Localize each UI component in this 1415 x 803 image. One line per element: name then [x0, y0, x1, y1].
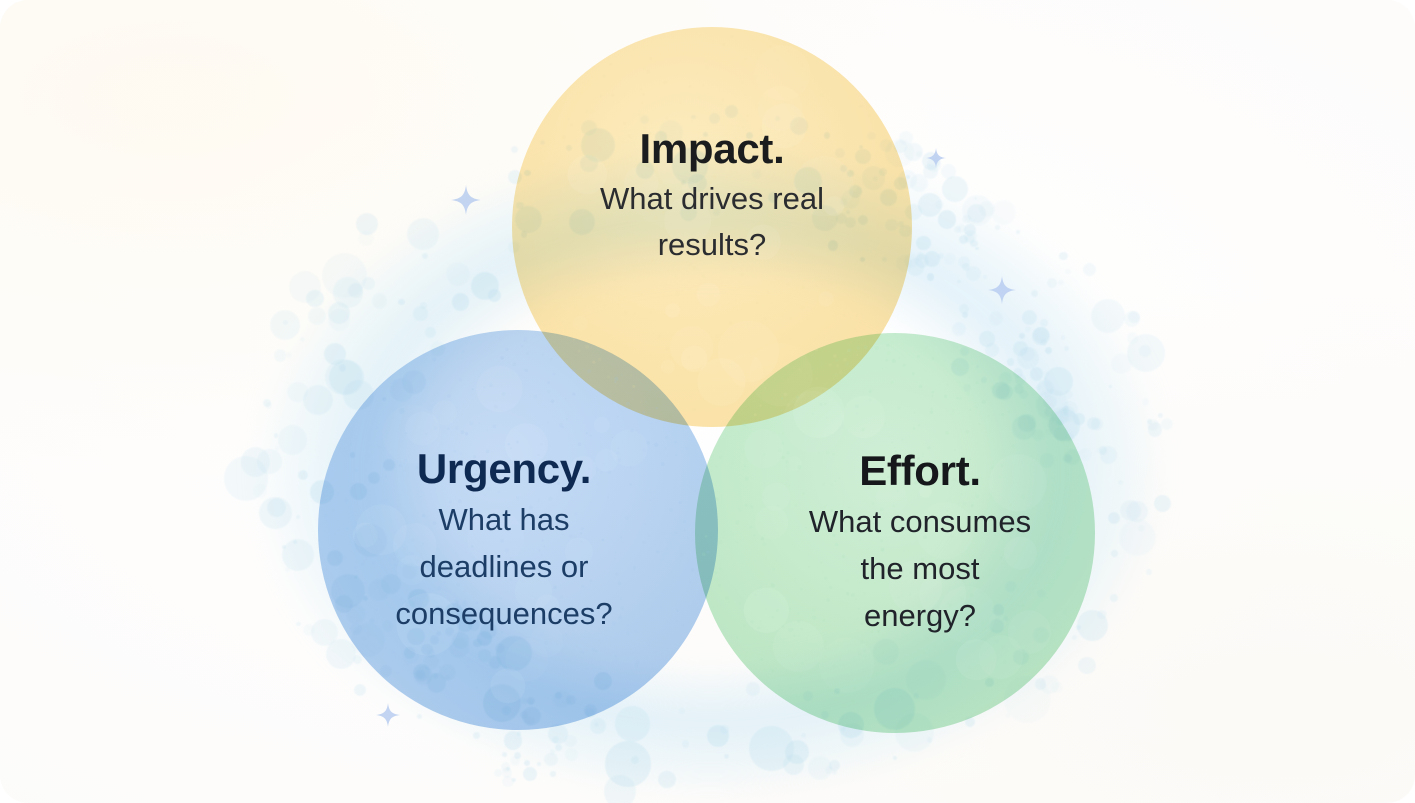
bokeh-bubble: [263, 399, 271, 407]
label-effort-line1: What consumes: [730, 500, 1110, 543]
bokeh-bubble: [1033, 327, 1049, 343]
bokeh-bubble: [308, 307, 326, 325]
bokeh-bubble: [1047, 278, 1058, 289]
bokeh-bubble: [679, 708, 684, 713]
bokeh-bubble: [1065, 449, 1081, 465]
bokeh-bubble: [380, 665, 392, 677]
bokeh-bubble: [725, 105, 738, 118]
bokeh-bubble: [659, 120, 684, 145]
bokeh-bubble: [303, 624, 315, 636]
bokeh-bubble: [433, 606, 444, 617]
bokeh-bubble: [959, 304, 969, 314]
bokeh-bubble: [1099, 446, 1107, 454]
bokeh-bubble: [259, 497, 292, 530]
bokeh-bubble: [874, 688, 915, 729]
bokeh-bubble: [420, 302, 427, 309]
bokeh-bubble: [794, 167, 822, 195]
label-effort-title: Effort.: [730, 446, 1110, 496]
bokeh-bubble: [427, 649, 435, 657]
bokeh-bubble: [449, 637, 470, 658]
bokeh-bubble: [502, 752, 508, 758]
bokeh-bubble: [523, 767, 537, 781]
bokeh-bubble: [274, 433, 278, 437]
bokeh-bubble: [521, 698, 527, 704]
bokeh-bubble: [480, 622, 497, 639]
bokeh-bubble: [427, 673, 446, 692]
bokeh-bubble: [867, 132, 876, 141]
bokeh-bubble: [275, 446, 279, 450]
bokeh-bubble: [502, 776, 514, 788]
bokeh-bubble: [640, 115, 649, 124]
bokeh-bubble: [803, 691, 813, 701]
bokeh-bubble: [783, 754, 804, 775]
bokeh-bubble: [1013, 649, 1029, 665]
bokeh-bubble: [445, 603, 463, 621]
bokeh-bubble: [970, 240, 977, 247]
bokeh-bubble: [1025, 326, 1031, 332]
bokeh-bubble: [915, 254, 929, 268]
bokeh-bubble: [681, 180, 686, 185]
bokeh-bubble: [1120, 500, 1141, 521]
bokeh-bubble: [282, 545, 286, 549]
bokeh-bubble: [548, 724, 569, 745]
bokeh-bubble: [402, 370, 426, 394]
bokeh-bubble: [488, 289, 501, 302]
bokeh-bubble: [885, 219, 898, 232]
bokeh-bubble: [962, 195, 993, 226]
bokeh-bubble: [1139, 345, 1151, 357]
bokeh-bubble: [1148, 422, 1162, 436]
bokeh-bubble: [460, 610, 473, 623]
bokeh-bubble: [478, 649, 491, 662]
bokeh-bubble: [965, 717, 975, 727]
bokeh-bubble: [430, 341, 445, 356]
bokeh-bubble: [873, 639, 899, 665]
bokeh-bubble: [506, 767, 510, 771]
bokeh-bubble: [594, 672, 612, 690]
bokeh-bubble: [1020, 347, 1034, 361]
bokeh-bubble: [296, 515, 301, 520]
bokeh-bubble: [916, 236, 931, 251]
bokeh-bubble: [241, 447, 271, 477]
bokeh-bubble: [520, 711, 528, 719]
bokeh-bubble: [278, 425, 308, 455]
bokeh-bubble: [333, 277, 364, 308]
bokeh-bubble: [962, 263, 970, 271]
bokeh-bubble: [1043, 395, 1057, 409]
bokeh-bubble: [880, 189, 897, 206]
bokeh-bubble: [283, 320, 288, 325]
bokeh-bubble: [1127, 332, 1138, 343]
bokeh-bubble: [402, 563, 418, 579]
bokeh-bubble: [555, 692, 562, 699]
bokeh-bubble: [957, 224, 966, 233]
bokeh-bubble: [303, 385, 333, 415]
bokeh-bubble: [709, 113, 720, 124]
venn-diagram-canvas: Impact. What drives real results? Urgenc…: [0, 0, 1415, 803]
bokeh-bubble: [1064, 346, 1069, 351]
paper-tint-overlay: [0, 0, 1415, 803]
bokeh-bubble: [293, 540, 297, 544]
bokeh-bubble: [1044, 367, 1073, 396]
bokeh-bubble: [975, 247, 979, 251]
bokeh-bubble: [354, 575, 358, 579]
venn-circles-group: [0, 0, 1415, 803]
bokeh-bubble: [1040, 339, 1047, 346]
bokeh-bubble: [382, 620, 393, 631]
bokeh-bubble: [348, 283, 363, 298]
bokeh-bubble: [516, 202, 523, 209]
bokeh-bubble: [615, 706, 651, 742]
bokeh-bubble: [540, 140, 545, 145]
bokeh-bubble: [454, 600, 459, 605]
bokeh-bubble: [979, 331, 994, 346]
bokeh-bubble: [289, 271, 321, 303]
bokeh-bubble: [1124, 311, 1140, 327]
bokeh-bubble: [898, 170, 917, 189]
bokeh-bubble: [566, 145, 572, 151]
bokeh-bubble: [985, 343, 1000, 358]
bokeh-bubble: [999, 372, 1012, 385]
bokeh-bubble: [834, 688, 840, 694]
bokeh-bubble: [1110, 594, 1118, 602]
bokeh-bubble: [1158, 413, 1163, 418]
bokeh-bubble: [808, 756, 833, 781]
bokeh-bubble: [524, 170, 530, 176]
bokeh-bubble: [581, 120, 597, 136]
bokeh-bubble: [695, 151, 708, 164]
bokeh-bubble: [325, 359, 362, 396]
bokeh-bubble: [1045, 347, 1052, 354]
bokeh-bubble: [550, 749, 555, 754]
bokeh-bubble: [1019, 390, 1028, 399]
bokeh-bubble: [1013, 341, 1028, 356]
bokeh-bubble: [512, 778, 516, 782]
bokeh-bubble: [427, 615, 438, 626]
bokeh-bubble: [965, 234, 975, 244]
bokeh-bubble: [1059, 252, 1067, 260]
bokeh-bubble: [720, 725, 729, 734]
bokeh-bubble: [1118, 480, 1123, 485]
bokeh-bubble: [521, 231, 527, 237]
bokeh-bubble: [1108, 512, 1120, 524]
bokeh-bubble: [958, 256, 971, 269]
bokeh-bubble: [768, 192, 779, 203]
bokeh-bubble: [658, 771, 676, 789]
bokeh-bubble: [286, 352, 292, 358]
bokeh-bubble: [1128, 311, 1140, 323]
bokeh-bubble: [296, 622, 300, 626]
bokeh-bubble: [328, 309, 350, 331]
label-effort: Effort. What consumes the most energy?: [730, 446, 1110, 637]
bokeh-bubble: [287, 382, 307, 402]
bokeh-bubble: [904, 253, 919, 268]
bokeh-bubble: [483, 684, 521, 722]
bokeh-bubble: [329, 360, 364, 395]
bokeh-bubble: [846, 210, 850, 214]
bokeh-bubble: [927, 157, 942, 172]
bokeh-bubble: [581, 128, 615, 162]
label-urgency-line3: consequences?: [318, 592, 690, 635]
bokeh-bubble: [324, 343, 346, 365]
bokeh-bubble: [840, 726, 846, 732]
bokeh-bubble: [553, 690, 571, 708]
bokeh-bubble: [992, 382, 1010, 400]
bokeh-bubble: [326, 639, 357, 670]
bokeh-bubble: [918, 193, 942, 217]
bokeh-bubble: [855, 149, 871, 165]
bokeh-bubble: [895, 713, 935, 753]
bokeh-bubble: [906, 175, 910, 179]
bokeh-bubble: [544, 753, 558, 767]
bokeh-bubble: [1119, 519, 1156, 556]
bokeh-bubble: [885, 139, 913, 167]
label-impact: Impact. What drives real results?: [512, 124, 912, 266]
bokeh-bubble: [1037, 380, 1054, 397]
bokeh-bubble: [672, 148, 708, 184]
bokeh-bubble: [801, 733, 806, 738]
bokeh-bubble: [350, 623, 362, 635]
bokeh-bubble: [555, 744, 562, 751]
bokeh-bubble: [282, 539, 314, 571]
bokeh-bubble: [829, 760, 840, 771]
label-impact-line1: What drives real: [512, 178, 912, 220]
bokeh-bubble: [880, 139, 893, 152]
bokeh-bubble: [1083, 263, 1097, 277]
bokeh-bubble: [1022, 310, 1038, 326]
bokeh-bubble: [967, 204, 986, 223]
venn-circle-urgency: [318, 330, 718, 730]
bokeh-bubble: [257, 449, 281, 473]
bokeh-bubble: [935, 200, 944, 209]
bokeh-bubble: [1064, 411, 1069, 416]
bokeh-bubble: [1077, 610, 1109, 642]
bokeh-bubble: [369, 618, 375, 624]
bokeh-bubble: [1051, 407, 1070, 426]
bokeh-bubble: [413, 664, 430, 681]
bokeh-bubble: [835, 148, 845, 158]
bokeh-bubble: [894, 140, 907, 153]
bokeh-bubble: [1040, 453, 1054, 467]
bokeh-bubble: [905, 204, 921, 220]
bokeh-bubble: [421, 644, 433, 656]
bokeh-bubble: [267, 498, 286, 517]
bokeh-bubble: [511, 146, 518, 153]
sparkle-icon: [988, 276, 1016, 304]
bokeh-bubble: [1043, 371, 1048, 376]
bokeh-bubble: [514, 752, 521, 759]
bokeh-bubble: [724, 754, 729, 759]
bokeh-bubble: [404, 647, 415, 658]
bokeh-bubble: [285, 567, 290, 572]
bokeh-bubble: [828, 240, 839, 251]
bokeh-bubble: [566, 695, 576, 705]
bokeh-bubble: [496, 636, 532, 672]
bokeh-bubble: [785, 740, 809, 764]
bokeh-bubble: [821, 711, 829, 719]
bokeh-bubble: [858, 215, 868, 225]
bokeh-bubble: [358, 231, 373, 246]
bokeh-bubble: [300, 337, 305, 342]
bokeh-bubble: [1138, 525, 1145, 532]
bokeh-bubble: [1063, 454, 1072, 463]
bokeh-bubble: [752, 169, 762, 179]
bokeh-bubble: [298, 470, 309, 481]
bokeh-bubble: [468, 619, 480, 631]
bokeh-bubble: [1063, 406, 1068, 411]
bokeh-bubble: [537, 762, 541, 766]
bokeh-bubble: [1032, 327, 1050, 345]
bokeh-bubble: [413, 306, 428, 321]
sparkle-icon: [451, 185, 481, 215]
bokeh-bubble: [552, 736, 559, 743]
bokeh-bubble: [1087, 417, 1100, 430]
bokeh-bubble: [436, 631, 442, 637]
bokeh-bubble: [951, 358, 969, 376]
bokeh-bubble: [306, 290, 324, 308]
bokeh-bubble: [954, 226, 961, 233]
bokeh-bubble: [938, 253, 944, 259]
bokeh-bubble: [494, 769, 502, 777]
bokeh-bubble: [439, 664, 456, 681]
bokeh-bubble: [1146, 569, 1151, 574]
bokeh-bubble: [550, 771, 555, 776]
label-urgency-line1: What has: [318, 498, 690, 541]
bokeh-bubble: [1126, 501, 1148, 523]
bokeh-bubble: [941, 164, 956, 179]
bokeh-bubble: [473, 639, 481, 647]
bokeh-bubble: [407, 218, 439, 250]
bokeh-bubble: [585, 708, 595, 718]
bokeh-bubble: [489, 656, 501, 668]
label-effort-line2: the most: [730, 547, 1110, 590]
bokeh-bubble: [990, 619, 1004, 633]
bokeh-bubble: [979, 201, 995, 217]
bokeh-bubble: [605, 741, 650, 786]
bokeh-bubble: [910, 174, 928, 192]
bokeh-bubble: [879, 168, 887, 176]
bokeh-bubble: [1017, 347, 1038, 368]
bokeh-bubble: [1073, 413, 1085, 425]
bokeh-bubble: [856, 187, 862, 193]
bokeh-bubble: [923, 164, 938, 179]
bokeh-bubble: [840, 165, 847, 172]
bokeh-bubble: [1064, 390, 1073, 399]
bokeh-bubble: [899, 131, 913, 145]
bokeh-bubble: [1037, 589, 1046, 598]
bokeh-bubble: [1062, 401, 1078, 417]
bokeh-bubble: [522, 707, 541, 726]
bokeh-bubble: [363, 596, 368, 601]
bokeh-bubble: [1051, 682, 1063, 694]
bokeh-bubble: [346, 604, 365, 623]
bokeh-bubble: [502, 706, 511, 715]
bokeh-bubble: [327, 550, 342, 565]
bokeh-bubble: [331, 574, 365, 608]
bokeh-bubble: [368, 472, 380, 484]
bokeh-bubble: [927, 273, 935, 281]
bokeh-bubble: [350, 452, 355, 457]
bokeh-bubble: [430, 635, 439, 644]
bokeh-bubble: [991, 200, 1016, 225]
bokeh-bubble: [438, 666, 441, 669]
bokeh-bubble: [680, 204, 697, 221]
bokeh-bubble: [952, 322, 966, 336]
bokeh-bubble: [382, 397, 386, 401]
bokeh-bubble: [1061, 335, 1065, 339]
bokeh-bubble: [1096, 448, 1102, 454]
bokeh-bubble: [414, 666, 433, 685]
label-urgency: Urgency. What has deadlines or consequen…: [318, 444, 690, 635]
label-urgency-title: Urgency.: [318, 444, 690, 494]
bokeh-bubble: [351, 623, 384, 656]
bokeh-bubble: [824, 132, 830, 138]
bokeh-bubble: [425, 327, 436, 338]
bokeh-bubble: [1003, 616, 1008, 621]
bokeh-bubble: [381, 574, 401, 594]
bokeh-bubble: [372, 293, 387, 308]
bokeh-bubble: [471, 272, 499, 300]
bokeh-bubble: [328, 302, 350, 324]
bokeh-bubble: [452, 632, 469, 649]
bokeh-bubble: [584, 704, 597, 717]
bokeh-bubble: [1044, 377, 1047, 380]
bokeh-bubble: [1049, 409, 1081, 441]
bokeh-bubble: [524, 760, 530, 766]
bokeh-bubble: [457, 616, 473, 632]
bokeh-bubble: [963, 384, 971, 392]
bokeh-bubble: [1044, 407, 1053, 416]
bokeh-bubble: [1100, 446, 1117, 463]
bokeh-bubble: [847, 170, 854, 177]
bokeh-bubble: [253, 484, 266, 497]
bokeh-bubble: [703, 132, 708, 137]
bokeh-bubble: [966, 266, 981, 281]
bokeh-bubble: [452, 293, 470, 311]
venn-circle-impact: [512, 27, 912, 427]
bokeh-bubble: [839, 197, 848, 206]
bokeh-bubble: [224, 456, 268, 500]
bokeh-bubble: [517, 731, 521, 735]
sparkle-icon: [926, 148, 946, 168]
bokeh-bubble: [425, 560, 436, 571]
bokeh-bubble: [957, 280, 960, 283]
bokeh-bubble: [594, 722, 599, 727]
bokeh-bubble: [398, 299, 404, 305]
bokeh-bubble: [527, 697, 535, 705]
bokeh-bubble: [1109, 385, 1112, 388]
bokeh-bubble: [927, 737, 932, 742]
bokeh-bubble: [510, 756, 520, 766]
bokeh-bubble: [631, 756, 639, 764]
bokeh-bubble: [529, 700, 533, 704]
bokeh-bubble: [898, 221, 903, 226]
bokeh-bubble: [655, 131, 668, 144]
bokeh-bubble: [1004, 676, 1050, 722]
bokeh-bubble: [265, 402, 272, 409]
bokeh-bubble: [1045, 429, 1051, 435]
bokeh-bubble: [985, 678, 994, 687]
bokeh-bubble: [1040, 319, 1048, 327]
bokeh-bubble: [504, 731, 522, 749]
bokeh-bubble: [922, 152, 940, 170]
bokeh-bubble: [1127, 334, 1165, 372]
bokeh-bubble: [1036, 385, 1042, 391]
bokeh-bubble: [1047, 416, 1062, 431]
bokeh-bubble: [916, 151, 922, 157]
bokeh-bubble: [1018, 414, 1035, 431]
bokeh-bubble: [1036, 389, 1068, 421]
